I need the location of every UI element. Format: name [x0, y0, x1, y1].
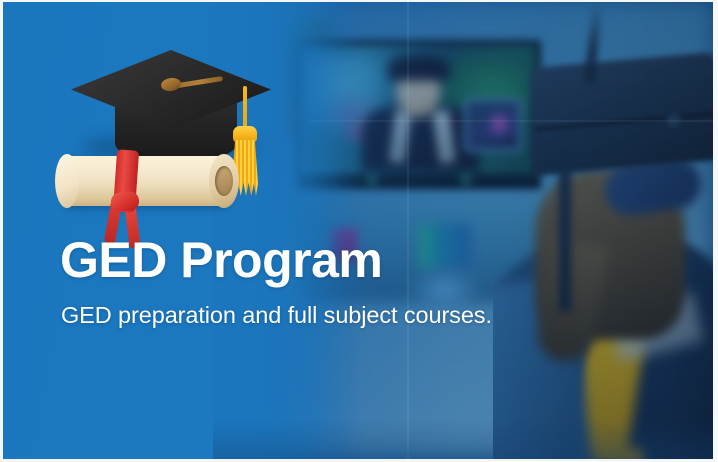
scroll-roll-hole [215, 166, 233, 196]
cap-board-face [71, 50, 271, 136]
photo-seam-vertical [407, 2, 409, 459]
tassel-cord [243, 86, 247, 130]
diploma-scroll [55, 152, 237, 210]
photo-bottom-fade [213, 419, 713, 459]
page-subtitle: GED preparation and full subject courses… [61, 301, 620, 329]
photo-seam-horizontal [309, 120, 713, 122]
graduation-cap-board [71, 50, 271, 136]
banner-text-block: GED Program GED preparation and full sub… [60, 234, 620, 329]
scroll-body [61, 156, 233, 206]
ged-program-banner[interactable]: GED Program GED preparation and full sub… [0, 0, 718, 462]
graduation-emblem [47, 42, 297, 222]
scroll-left-end [55, 154, 79, 208]
page-title: GED Program [60, 234, 620, 287]
